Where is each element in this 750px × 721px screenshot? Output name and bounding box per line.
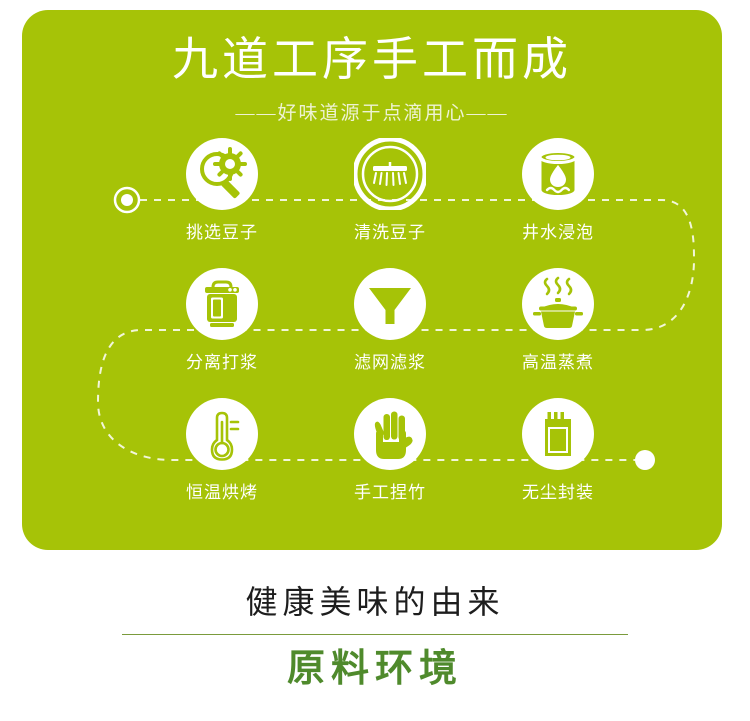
page-root: 九道工序手工而成 ——好味道源于点滴用心—— <box>0 0 750 721</box>
process-step-4[interactable]: 分离打浆 <box>138 268 306 398</box>
process-steps: 挑选豆子 <box>22 138 722 528</box>
process-row-1: 挑选豆子 <box>22 138 722 268</box>
page-title: 九道工序手工而成 <box>22 34 722 85</box>
bottom-section: 健康美味的由来 原料环境 <box>0 580 750 697</box>
process-step-5[interactable]: 滤网滤浆 <box>306 268 474 398</box>
process-step-label: 清洗豆子 <box>306 218 474 243</box>
section-divider <box>122 634 628 635</box>
row-spacer <box>642 268 722 398</box>
section-heading: 健康美味的由来 <box>0 580 750 624</box>
sealed-package-icon <box>522 398 594 470</box>
row-spacer <box>642 398 722 528</box>
process-step-label: 高温蒸煮 <box>474 348 642 373</box>
process-step-9[interactable]: 无尘封装 <box>474 398 642 528</box>
process-panel: 九道工序手工而成 ——好味道源于点滴用心—— <box>22 10 722 550</box>
process-step-7[interactable]: 恒温烘烤 <box>138 398 306 528</box>
steaming-pot-icon <box>522 268 594 340</box>
open-hand-icon <box>354 398 426 470</box>
process-step-label: 恒温烘烤 <box>138 478 306 503</box>
section-subheading: 原料环境 <box>0 641 750 697</box>
water-bucket-icon <box>522 138 594 210</box>
funnel-filter-icon <box>354 268 426 340</box>
thermometer-icon <box>186 398 258 470</box>
process-step-label: 挑选豆子 <box>138 218 306 243</box>
process-step-8[interactable]: 手工捏竹 <box>306 398 474 528</box>
process-row-3: 恒温烘烤 <box>22 398 722 528</box>
process-step-label: 井水浸泡 <box>474 218 642 243</box>
shower-head-icon <box>354 138 426 210</box>
process-step-label: 滤网滤浆 <box>306 348 474 373</box>
soymilk-machine-icon <box>186 268 258 340</box>
process-step-1[interactable]: 挑选豆子 <box>138 138 306 268</box>
process-step-3[interactable]: 井水浸泡 <box>474 138 642 268</box>
process-step-label: 手工捏竹 <box>306 478 474 503</box>
page-subtitle: ——好味道源于点滴用心—— <box>22 98 722 125</box>
process-step-label: 分离打浆 <box>138 348 306 373</box>
magnifier-gear-icon <box>186 138 258 210</box>
row-spacer <box>642 138 722 268</box>
process-row-2: 分离打浆 滤网滤浆 <box>22 268 722 398</box>
process-step-6[interactable]: 高温蒸煮 <box>474 268 642 398</box>
process-step-label: 无尘封装 <box>474 478 642 503</box>
process-step-2[interactable]: 清洗豆子 <box>306 138 474 268</box>
